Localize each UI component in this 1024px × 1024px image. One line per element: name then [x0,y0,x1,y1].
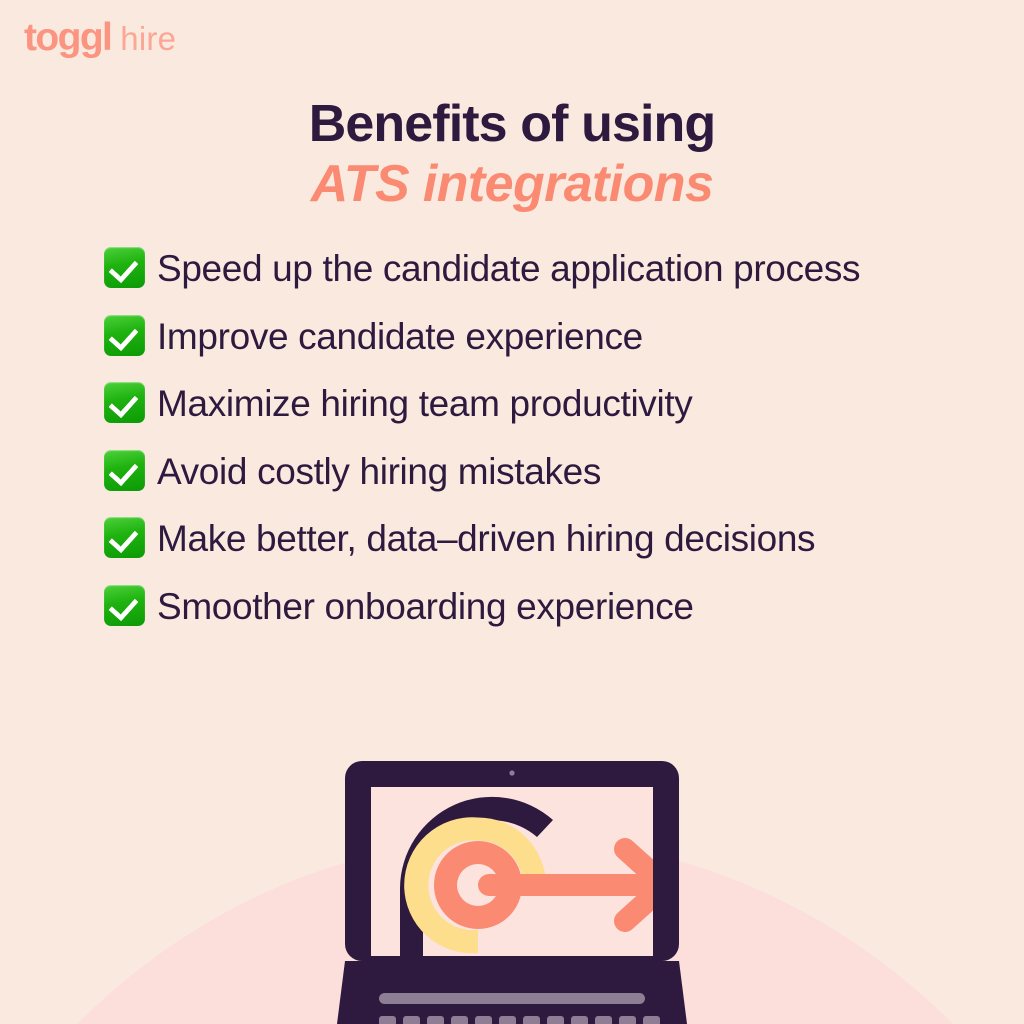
keyboard-key [403,1016,420,1024]
keyboard-key [379,1016,396,1024]
list-item: Maximize hiring team productivity [104,379,934,429]
benefits-list: Speed up the candidate application proce… [104,244,934,649]
white-heavy-check-mark-icon [104,585,145,626]
list-item-label: Make better, data–driven hiring decision… [157,518,815,559]
white-heavy-check-mark-icon [104,382,145,423]
list-item-label: Avoid costly hiring mistakes [157,451,601,492]
keyboard-key [547,1016,564,1024]
list-item: Smoother onboarding experience [104,582,934,632]
list-item: Make better, data–driven hiring decision… [104,514,934,564]
white-heavy-check-mark-icon [104,315,145,356]
list-item-label: Improve candidate experience [157,316,643,357]
logo-wordmark-secondary: hire [120,22,176,55]
white-heavy-check-mark-icon [104,450,145,491]
page-title: Benefits of using ATS integrations [0,95,1024,215]
list-item: Improve candidate experience [104,312,934,362]
list-item: Avoid costly hiring mistakes [104,447,934,497]
list-item-label: Smoother onboarding experience [157,586,694,627]
keyboard-key [523,1016,540,1024]
white-heavy-check-mark-icon [104,247,145,288]
keyboard-key [427,1016,444,1024]
logo-wordmark-primary: toggl [24,18,111,57]
keyboard-key [451,1016,468,1024]
white-heavy-check-mark-icon [104,517,145,558]
page-title-line-2: ATS integrations [0,155,1024,215]
trackpad-bar [379,993,645,1004]
keyboard-key [499,1016,516,1024]
keyboard-key [595,1016,612,1024]
keyboard-key [571,1016,588,1024]
page-title-line-1: Benefits of using [0,95,1024,153]
webcam-dot [509,770,514,775]
keyboard-key [643,1016,660,1024]
list-item: Speed up the candidate application proce… [104,244,934,294]
list-item-label: Speed up the candidate application proce… [157,248,860,289]
laptop-base [337,961,687,1024]
toggl-hire-logo[interactable]: toggl hire [24,18,176,57]
keyboard-key [619,1016,636,1024]
keyboard-key [475,1016,492,1024]
arrow-shaft [478,874,653,896]
list-item-label: Maximize hiring team productivity [157,383,692,424]
laptop-with-target-and-arrow-illustration [337,761,687,1024]
